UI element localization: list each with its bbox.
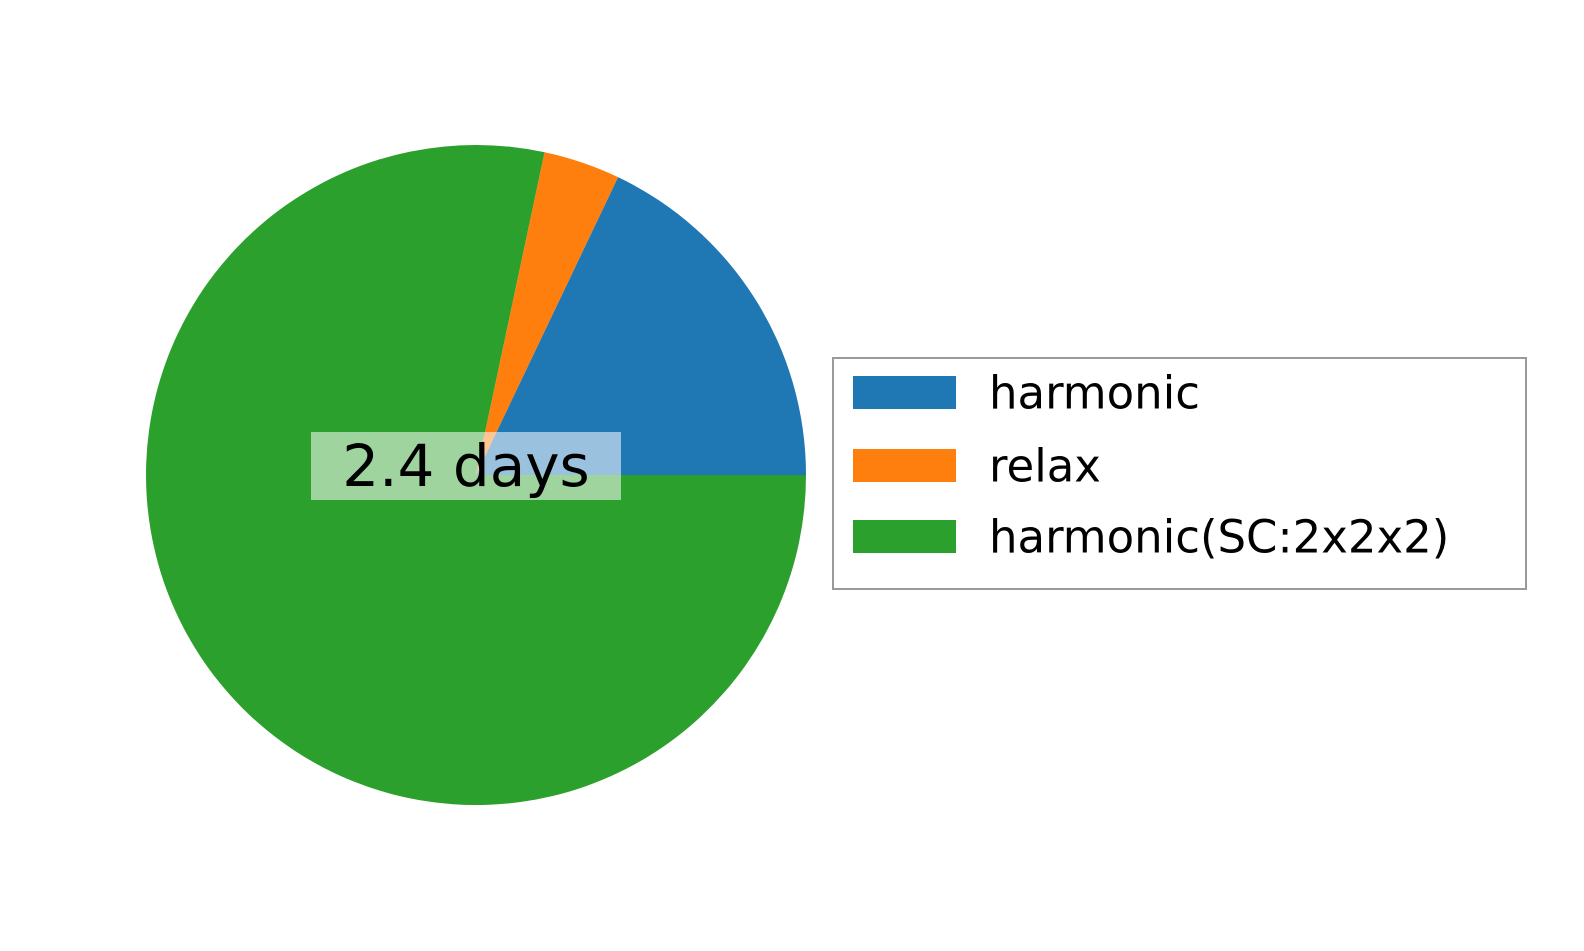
legend-swatch-harmonic [853, 376, 956, 409]
legend-label-harmonic-sc-2x2x2: harmonic(SC:2x2x2) [989, 515, 1449, 560]
pie-svg [146, 145, 806, 805]
legend: harmonic relax harmonic(SC:2x2x2) [832, 357, 1527, 590]
legend-label-harmonic: harmonic [989, 371, 1200, 416]
legend-entry-relax[interactable]: relax [834, 446, 1525, 486]
legend-swatch-harmonic-sc-2x2x2 [853, 520, 956, 553]
pie-chart [146, 145, 806, 805]
figure-canvas: 2.4 days harmonic relax harmonic(SC:2x2x… [0, 0, 1584, 951]
legend-entry-harmonic-sc-2x2x2[interactable]: harmonic(SC:2x2x2) [834, 517, 1525, 557]
legend-swatch-relax [853, 449, 956, 482]
legend-entry-harmonic[interactable]: harmonic [834, 373, 1525, 413]
legend-label-relax: relax [989, 444, 1101, 489]
